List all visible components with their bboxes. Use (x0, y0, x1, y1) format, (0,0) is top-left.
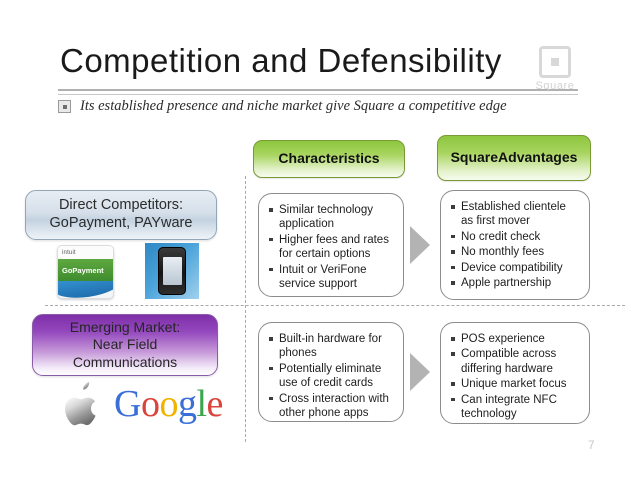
square-brand-logo: Square (525, 46, 585, 92)
gopayment-swoosh (58, 281, 113, 298)
apple-logo (62, 382, 104, 428)
characteristics-box-row-2: Built-in hardware for phones Potentially… (258, 322, 404, 422)
advantages-line-1: Square (451, 150, 498, 166)
advantages-box-row-1: Established clientele as first mover No … (440, 190, 590, 300)
square-bullet-icon (58, 100, 71, 113)
list-item: Intuit or VeriFone service support (269, 263, 395, 292)
intuit-wordmark: intuit (62, 250, 76, 256)
phone-screen (163, 257, 182, 285)
gopayment-product-strip: GoPayment (58, 259, 113, 281)
list-item: Unique market focus (451, 377, 581, 391)
phone-device-icon (158, 247, 186, 295)
list-item: No credit check (451, 230, 581, 244)
horizontal-divider (45, 305, 625, 306)
arrow-right-icon-row-2 (410, 353, 430, 391)
list-item: POS experience (451, 332, 581, 346)
page-title: Competition and Defensibility (60, 42, 502, 80)
payware-phone-photo (145, 243, 199, 299)
arrow-right-icon-row-1 (410, 226, 430, 264)
page-number: 7 (588, 438, 595, 452)
category-direct-competitors: Direct Competitors: GoPayment, PAYware (25, 190, 217, 240)
direct-competitors-line-1: Direct Competitors: (59, 197, 183, 213)
google-letter-e: e (207, 383, 223, 425)
subtitle-row: Its established presence and niche marke… (58, 98, 507, 115)
square-wordmark: Square (525, 80, 585, 92)
gopayment-brand-strip: intuit (58, 246, 113, 259)
google-letter-l: l (196, 383, 206, 425)
list-item: Built-in hardware for phones (269, 332, 395, 361)
intuit-gopayment-logo: intuit GoPayment (57, 245, 114, 299)
column-header-characteristics: Characteristics (253, 140, 405, 178)
list-item: Similar technology application (269, 203, 395, 232)
list-item: Potentially eliminate use of credit card… (269, 362, 395, 391)
category-emerging-market: Emerging Market: Near Field Communicatio… (32, 314, 218, 376)
google-logo: Google (114, 385, 223, 423)
google-letter-o1: o (141, 383, 160, 425)
direct-competitors-line-2: GoPayment, PAYware (50, 215, 193, 231)
vertical-divider (245, 176, 246, 442)
google-letter-g1: G (114, 383, 141, 425)
square-logo-icon (539, 46, 571, 78)
list-item: Cross interaction with other phone apps (269, 392, 395, 421)
google-letter-g2: g (178, 383, 197, 425)
title-rule-lower (58, 94, 578, 95)
list-item: Higher fees and rates for certain option… (269, 233, 395, 262)
google-letter-o2: o (159, 383, 178, 425)
advantages-line-2: Advantages (498, 150, 577, 166)
list-item: Can integrate NFC technology (451, 393, 581, 422)
column-header-square-advantages: Square Advantages (437, 135, 591, 181)
slide-canvas: Competition and Defensibility Its establ… (0, 0, 638, 493)
characteristics-box-row-1: Similar technology application Higher fe… (258, 193, 404, 297)
list-item: Device compatibility (451, 261, 581, 275)
gopayment-wordmark: GoPayment (62, 266, 104, 275)
list-item: Established clientele as first mover (451, 200, 581, 229)
list-item: Apple partnership (451, 276, 581, 290)
advantages-box-row-2: POS experience Compatible across differi… (440, 322, 590, 424)
emerging-market-line-2: Near Field (93, 336, 158, 352)
title-rule-upper (58, 89, 578, 91)
emerging-market-line-3: Communications (73, 354, 177, 370)
subtitle-text: Its established presence and niche marke… (80, 98, 507, 115)
list-item: No monthly fees (451, 245, 581, 259)
emerging-market-line-1: Emerging Market: (70, 319, 180, 335)
list-item: Compatible across differing hardware (451, 347, 581, 376)
